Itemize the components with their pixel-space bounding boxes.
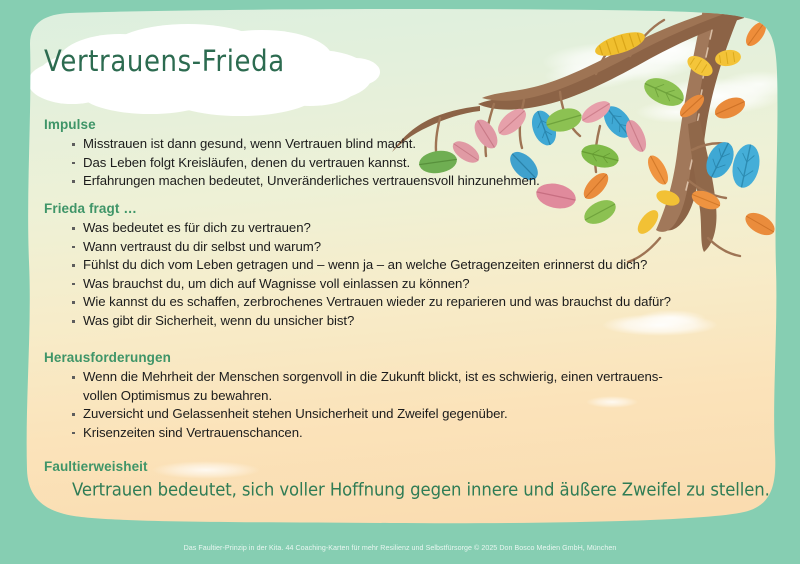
section-heading-impulse: Impulse <box>44 116 760 133</box>
list-item: Krisenzeiten sind Vertrauenschancen. <box>72 424 760 443</box>
bullet-icon <box>72 320 75 323</box>
list-item-text: Was gibt dir Sicherheit, wenn du unsiche… <box>83 313 354 328</box>
list-item: Misstrauen ist dann gesund, wenn Vertrau… <box>72 135 760 154</box>
bullet-icon <box>72 301 75 304</box>
list-item-text: Das Leben folgt Kreisläufen, denen du ve… <box>83 155 410 170</box>
faultierweisheit-text: Vertrauen bedeutet, sich voller Hoffnung… <box>44 477 760 503</box>
list-item: Fühlst du dich vom Leben getragen und – … <box>72 256 760 275</box>
card-title-area: Vertrauens-Frieda <box>44 42 344 90</box>
list-item: Zuversicht und Gelassenheit stehen Unsic… <box>72 405 760 424</box>
impulse-list: Misstrauen ist dann gesund, wenn Vertrau… <box>44 135 760 191</box>
list-item-text: Was bedeutet es für dich zu vertrauen? <box>83 220 311 235</box>
bullet-icon <box>72 264 75 267</box>
section-heading-herausforderungen: Herausforderungen <box>44 349 760 366</box>
card-canvas: Vertrauens-Frieda Impulse Misstrauen ist… <box>0 0 800 564</box>
list-item: Was gibt dir Sicherheit, wenn du unsiche… <box>72 312 760 331</box>
list-item-text: Krisenzeiten sind Vertrauenschancen. <box>83 425 303 440</box>
bullet-icon <box>72 143 75 146</box>
bullet-icon <box>72 413 75 416</box>
list-item-text: Erfahrungen machen bedeutet, Unveränderl… <box>83 173 540 188</box>
footer-credit: Das Faultier-Prinzip in der Kita. 44 Coa… <box>0 543 800 553</box>
list-item-text: Wenn die Mehrheit der Menschen sorgenvol… <box>83 369 663 403</box>
herausforderungen-list: Wenn die Mehrheit der Menschen sorgenvol… <box>44 368 760 442</box>
bullet-icon <box>72 432 75 435</box>
page-title: Vertrauens-Frieda <box>44 40 344 85</box>
section-faultierweisheit: Faultierweisheit Vertrauen bedeutet, sic… <box>44 458 760 501</box>
list-item: Wann vertraust du dir selbst und warum? <box>72 238 760 257</box>
list-item: Das Leben folgt Kreisläufen, denen du ve… <box>72 154 760 173</box>
frieda-fragt-list: Was bedeutet es für dich zu vertrauen? W… <box>44 219 760 331</box>
section-heading-faultierweisheit: Faultierweisheit <box>44 458 760 475</box>
section-impulse: Impulse Misstrauen ist dann gesund, wenn… <box>44 116 760 191</box>
list-item: Was brauchst du, um dich auf Wagnisse vo… <box>72 275 760 294</box>
section-frieda-fragt: Frieda fragt … Was bedeutet es für dich … <box>44 200 760 331</box>
bullet-icon <box>72 180 75 183</box>
bullet-icon <box>72 227 75 230</box>
list-item-text: Wie kannst du es schaffen, zerbrochenes … <box>83 294 671 309</box>
list-item-text: Fühlst du dich vom Leben getragen und – … <box>83 257 647 272</box>
bullet-icon <box>72 162 75 165</box>
list-item-text: Was brauchst du, um dich auf Wagnisse vo… <box>83 276 470 291</box>
bullet-icon <box>72 283 75 286</box>
list-item-text: Zuversicht und Gelassenheit stehen Unsic… <box>83 406 508 421</box>
list-item: Wenn die Mehrheit der Menschen sorgenvol… <box>72 368 760 405</box>
list-item: Was bedeutet es für dich zu vertrauen? <box>72 219 760 238</box>
section-herausforderungen: Herausforderungen Wenn die Mehrheit der … <box>44 349 760 442</box>
bullet-icon <box>72 246 75 249</box>
section-heading-frieda-fragt: Frieda fragt … <box>44 200 760 217</box>
list-item: Wie kannst du es schaffen, zerbrochenes … <box>72 293 760 312</box>
list-item: Erfahrungen machen bedeutet, Unveränderl… <box>72 172 760 191</box>
list-item-text: Wann vertraust du dir selbst und warum? <box>83 239 321 254</box>
list-item-text: Misstrauen ist dann gesund, wenn Vertrau… <box>83 136 416 151</box>
bullet-icon <box>72 376 75 379</box>
